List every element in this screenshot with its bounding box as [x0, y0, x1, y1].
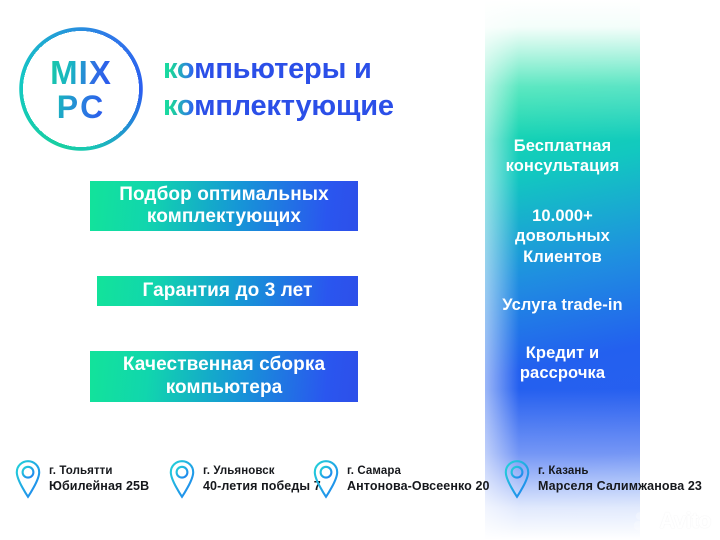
promo-item-tradein: Услуга trade-in	[485, 295, 640, 315]
feature-badge-optimal-parts: Подбор оптимальных комплектующих	[90, 181, 358, 231]
location-city: г. Ульяновск	[203, 465, 321, 477]
location-street: 40-летия победы 7	[203, 479, 321, 493]
location-text: г. Ульяновск 40-летия победы 7	[203, 465, 321, 493]
location-text: г. Казань Марселя Салимжанова 23	[538, 465, 702, 493]
promo-item-credit: Кредит и рассрочка	[485, 343, 640, 383]
location-city: г. Тольятти	[49, 465, 149, 477]
map-pin-icon	[14, 459, 42, 499]
headline-line-2-accent: ко	[163, 90, 194, 122]
location-text: г. Самара Антонова-Овсеенко 20	[347, 465, 490, 493]
headline-line-1-rest: мпьютеры и	[194, 53, 372, 85]
location-street: Юбилейная 25В	[49, 479, 149, 493]
map-pin-icon	[503, 459, 531, 499]
avito-watermark-text: Avito	[659, 508, 711, 534]
logo-text: MIX PC	[18, 26, 144, 152]
location-item-ulyanovsk: г. Ульяновск 40-летия победы 7	[168, 459, 321, 499]
location-item-tolyatti: г. Тольятти Юбилейная 25В	[14, 459, 149, 499]
avito-dots-icon	[633, 510, 655, 532]
feature-badge-quality-build: Качественная сборка компьютера	[90, 351, 358, 402]
location-text: г. Тольятти Юбилейная 25В	[49, 465, 149, 493]
feature-badge-warranty: Гарантия до 3 лет	[97, 276, 358, 306]
brand-logo: MIX PC	[18, 26, 144, 152]
avito-watermark: Avito	[633, 508, 711, 534]
map-pin-icon	[312, 459, 340, 499]
headline-line-2: комплектующие	[163, 88, 483, 125]
logo-line-pc: PC	[57, 91, 105, 123]
locations-bar: г. Тольятти Юбилейная 25В г. Ульяновск 4…	[0, 459, 720, 514]
map-pin-icon	[168, 459, 196, 499]
headline-line-1: компьютеры и	[163, 51, 483, 88]
page-title: компьютеры и комплектующие	[163, 51, 483, 125]
location-street: Антонова-Овсеенко 20	[347, 479, 490, 493]
location-city: г. Казань	[538, 465, 702, 477]
advertisement-banner: Бесплатная консультация 10.000+ довольны…	[0, 0, 720, 540]
logo-line-mix: MIX	[50, 56, 112, 89]
location-item-samara: г. Самара Антонова-Овсеенко 20	[312, 459, 490, 499]
promo-item-consultation: Бесплатная консультация	[485, 136, 640, 176]
headline-line-1-accent: ко	[163, 53, 194, 85]
headline-line-2-rest: мплектующие	[194, 90, 394, 122]
location-city: г. Самара	[347, 465, 490, 477]
location-item-kazan: г. Казань Марселя Салимжанова 23	[503, 459, 702, 499]
promo-item-clients: 10.000+ довольных Клиентов	[485, 206, 640, 266]
location-street: Марселя Салимжанова 23	[538, 479, 702, 493]
